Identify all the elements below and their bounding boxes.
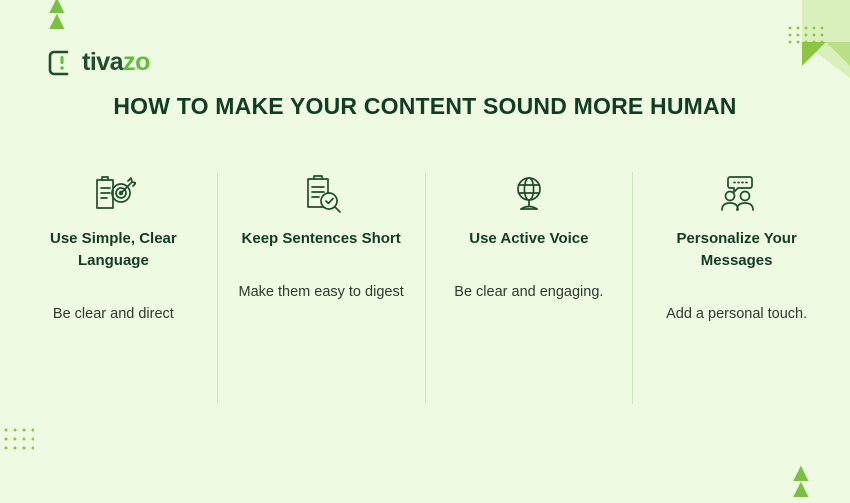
tip-column-2: Keep Sentences Short Make them easy to d… bbox=[217, 172, 425, 404]
chevron-up-double-icon: ▲▲ bbox=[788, 464, 814, 496]
page-title: HOW TO MAKE YOUR CONTENT SOUND MORE HUMA… bbox=[100, 90, 750, 122]
tip-title: Personalize Your Messages bbox=[647, 228, 826, 272]
tip-title: Use Active Voice bbox=[469, 228, 588, 250]
clipboard-search-icon bbox=[300, 172, 342, 216]
tip-column-4: Personalize Your Messages Add a personal… bbox=[632, 172, 840, 404]
dot-grid-icon bbox=[788, 26, 824, 48]
brand-name-part2: zo bbox=[123, 48, 150, 76]
brand-logo[interactable]: tivazo bbox=[48, 48, 150, 77]
brand-name-part1: tiva bbox=[82, 48, 123, 76]
tip-description: Add a personal touch. bbox=[666, 304, 807, 324]
tip-description: Be clear and direct bbox=[53, 304, 174, 324]
globe-stand-icon bbox=[509, 172, 549, 216]
tip-title: Use Simple, Clear Language bbox=[24, 228, 203, 272]
bracket-logo-icon bbox=[48, 50, 74, 76]
brand-name: tivazo bbox=[82, 48, 150, 77]
tip-description: Be clear and engaging. bbox=[454, 282, 603, 302]
tip-title: Keep Sentences Short bbox=[242, 228, 401, 250]
chevron-up-double-icon: ▲▲ bbox=[44, 0, 70, 28]
tips-columns: Use Simple, Clear Language Be clear and … bbox=[10, 172, 840, 404]
people-chat-icon bbox=[714, 172, 760, 216]
tip-column-3: Use Active Voice Be clear and engaging. bbox=[425, 172, 633, 404]
dot-grid-icon bbox=[4, 428, 34, 454]
clipboard-target-icon bbox=[90, 172, 136, 216]
tip-description: Make them easy to digest bbox=[239, 282, 404, 302]
tip-column-1: Use Simple, Clear Language Be clear and … bbox=[10, 172, 217, 404]
triangle-block-icon bbox=[802, 0, 850, 78]
